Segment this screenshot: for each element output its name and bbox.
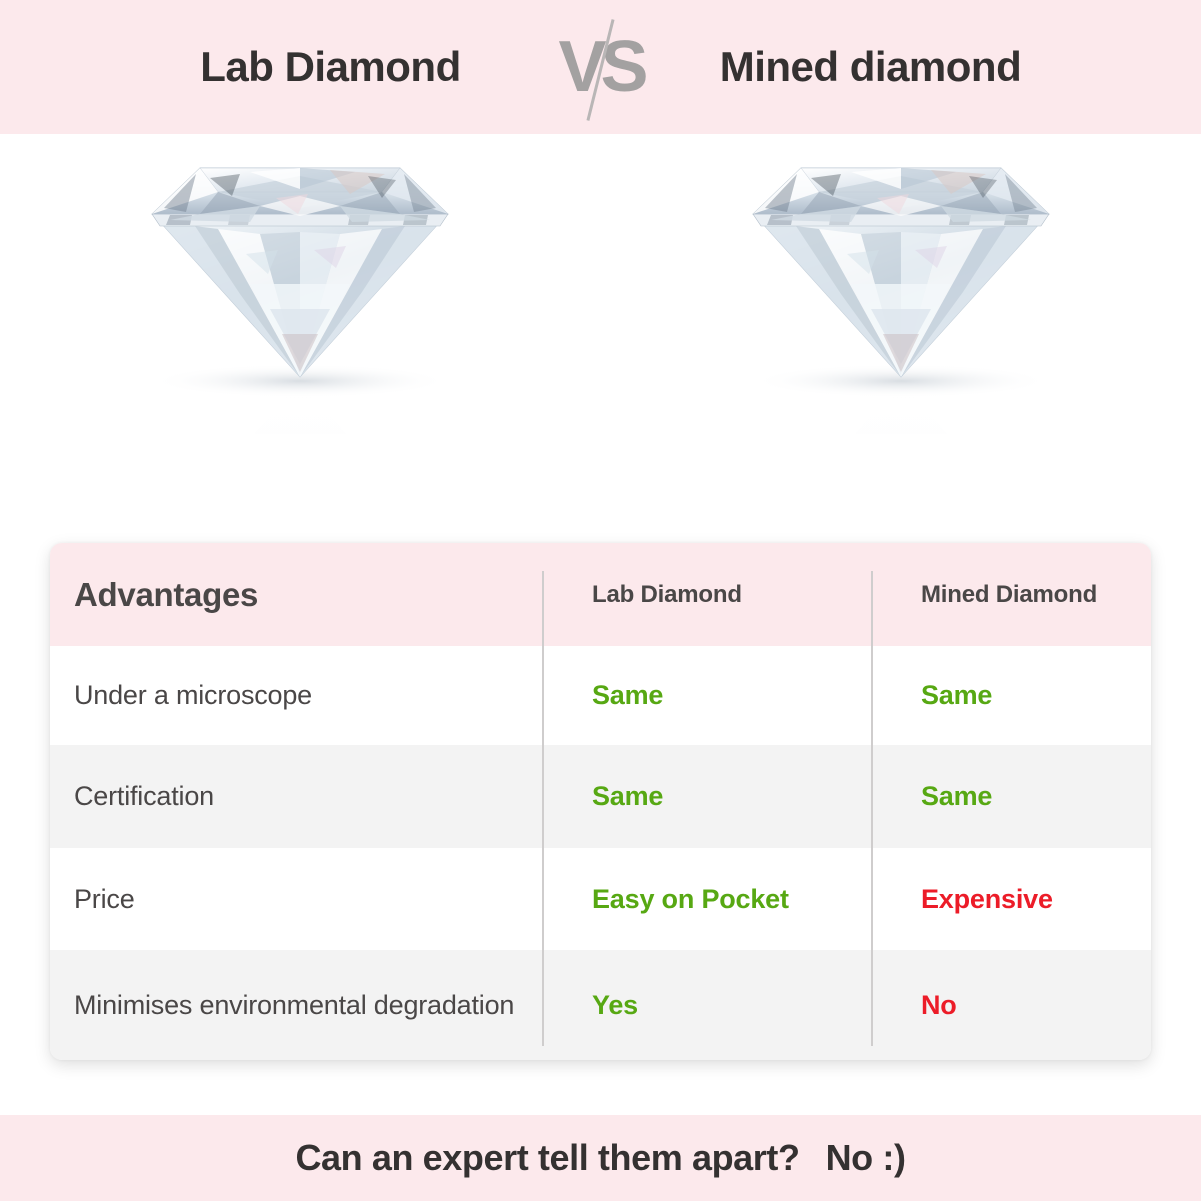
column-header-advantages: Advantages (74, 576, 258, 614)
table-header-row: Advantages Lab Diamond Mined Diamond (50, 543, 1151, 646)
row-lab-cell: Yes (542, 950, 871, 1060)
page-title-mined: Mined diamond (661, 46, 1081, 88)
row-mined-value: Same (921, 781, 992, 812)
table-row: Certification Same Same (50, 745, 1151, 848)
row-lab-value: Same (592, 781, 663, 812)
row-mined-cell: Same (871, 745, 1151, 848)
table-row: Price Easy on Pocket Expensive (50, 848, 1151, 950)
row-lab-cell: Easy on Pocket (542, 848, 871, 950)
row-lab-cell: Same (542, 646, 871, 745)
row-lab-value: Easy on Pocket (592, 884, 789, 915)
header-cell-mined: Mined Diamond (871, 543, 1151, 646)
column-header-lab: Lab Diamond (592, 581, 742, 609)
header-cell-lab: Lab Diamond (542, 543, 871, 646)
row-feature-cell: Certification (50, 745, 542, 848)
row-feature-label: Under a microscope (74, 677, 312, 713)
mined-diamond-image (601, 134, 1201, 534)
row-feature-label: Minimises environmental degradation (74, 987, 514, 1023)
comparison-infographic: Lab Diamond VS Mined diamond (0, 0, 1201, 1201)
row-lab-value: Yes (592, 990, 638, 1021)
table-row: Under a microscope Same Same (50, 646, 1151, 745)
row-feature-label: Certification (74, 778, 214, 814)
row-feature-cell: Under a microscope (50, 646, 542, 745)
row-mined-cell: No (871, 950, 1151, 1060)
comparison-table: Advantages Lab Diamond Mined Diamond Und… (50, 543, 1151, 1060)
footer-question: Can an expert tell them apart? (295, 1137, 799, 1179)
lab-diamond-image (0, 134, 601, 534)
header-band: Lab Diamond VS Mined diamond (0, 0, 1201, 134)
row-mined-value: Expensive (921, 884, 1053, 915)
row-feature-cell: Price (50, 848, 542, 950)
page-title-lab: Lab Diamond (121, 46, 541, 88)
row-feature-cell: Minimises environmental degradation (50, 950, 542, 1060)
row-lab-cell: Same (542, 745, 871, 848)
row-lab-value: Same (592, 680, 663, 711)
column-header-mined: Mined Diamond (921, 581, 1097, 609)
row-mined-cell: Same (871, 646, 1151, 745)
header-cell-feature: Advantages (50, 543, 542, 646)
table-row: Minimises environmental degradation Yes … (50, 950, 1151, 1060)
diamond-images (0, 134, 1201, 534)
footer-answer: No :) (826, 1137, 906, 1179)
diamond-icon (701, 134, 1101, 434)
row-feature-label: Price (74, 881, 135, 917)
vs-badge: VS (541, 0, 661, 134)
footer-band: Can an expert tell them apart? No :) (0, 1115, 1201, 1201)
row-mined-value: No (921, 990, 957, 1021)
diamond-icon (100, 134, 500, 434)
row-mined-value: Same (921, 680, 992, 711)
row-mined-cell: Expensive (871, 848, 1151, 950)
